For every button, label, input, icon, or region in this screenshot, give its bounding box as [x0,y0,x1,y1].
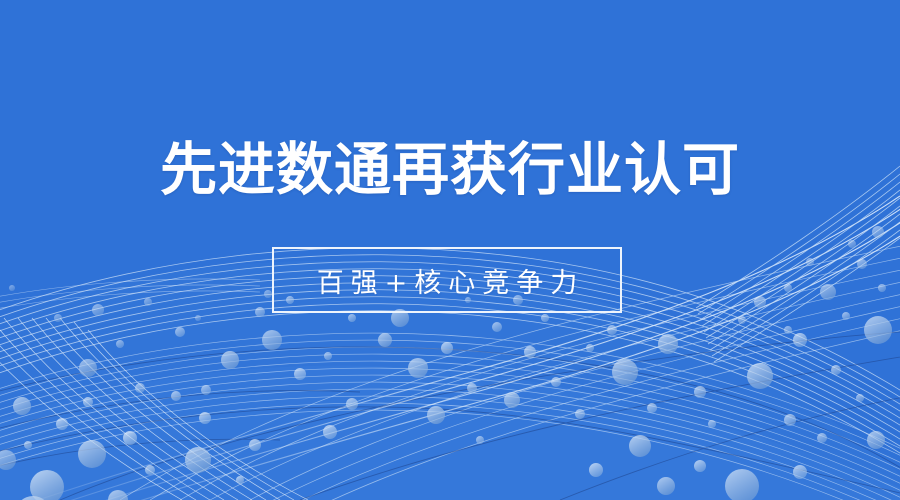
banner-content: 先进数通再获行业认可 百强+核心竞争力 [0,0,900,500]
subtitle-text: 百强+核心竞争力 [310,261,585,300]
subtitle-badge: 百强+核心竞争力 [272,247,622,313]
page-title: 先进数通再获行业认可 [0,137,900,203]
promo-banner: 先进数通再获行业认可 百强+核心竞争力 [0,0,900,500]
